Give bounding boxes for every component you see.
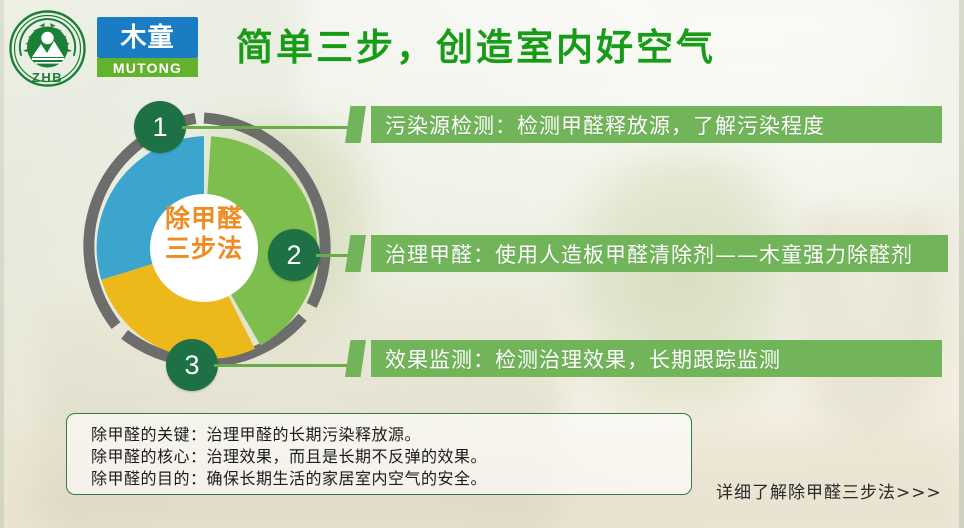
step-bar-2-tab bbox=[345, 235, 366, 272]
header: ZHB 木童 MUTONG 简单三步，创造室内好空气 bbox=[0, 0, 964, 95]
step-bar-3-text: 效果监测：检测治理效果，长期跟踪监测 bbox=[371, 344, 781, 374]
infographic-canvas: ZHB 木童 MUTONG 简单三步，创造室内好空气 bbox=[0, 0, 964, 528]
step-bar-1-tab bbox=[345, 106, 366, 143]
wheel-center-line2: 三步法 bbox=[116, 234, 292, 264]
step-bar-1-body: 污染源检测：检测甲醛释放源，了解污染程度 bbox=[371, 106, 942, 143]
zhb-emblem: ZHB bbox=[8, 9, 87, 88]
key-point-1: 除甲醛的关键：治理甲醛的长期污染释放源。 bbox=[91, 424, 691, 446]
mutong-logo-cn-text: 木童 bbox=[120, 25, 174, 51]
step-bar-2-text: 治理甲醛：使用人造板甲醛清除剂——木童强力除醛剂 bbox=[371, 239, 913, 269]
step-bar-2-body: 治理甲醛：使用人造板甲醛清除剂——木童强力除醛剂 bbox=[371, 235, 948, 272]
step-badge-2[interactable]: 2 bbox=[268, 229, 320, 281]
step-bar-1-text: 污染源检测：检测甲醛释放源，了解污染程度 bbox=[371, 110, 825, 140]
connector-line-1 bbox=[182, 126, 352, 129]
mutong-logo-cn: 木童 bbox=[97, 17, 198, 58]
background-plant-right bbox=[560, 150, 790, 430]
key-point-3: 除甲醛的目的：确保长期生活的家居室内空气的安全。 bbox=[91, 468, 691, 490]
step-bar-1[interactable]: 污染源检测：检测甲醛释放源，了解污染程度 bbox=[345, 106, 942, 143]
step-bar-3-tab bbox=[345, 340, 366, 377]
step-bar-3-body: 效果监测：检测治理效果，长期跟踪监测 bbox=[371, 340, 942, 377]
step-badge-1[interactable]: 1 bbox=[134, 101, 186, 153]
mutong-logo: 木童 MUTONG bbox=[97, 17, 198, 77]
more-info-link[interactable]: 详细了解除甲醛三步法>>> bbox=[716, 478, 956, 503]
wheel-center-label: 除甲醛 三步法 bbox=[116, 204, 292, 264]
emblem-text: ZHB bbox=[32, 70, 63, 85]
step-bar-2[interactable]: 治理甲醛：使用人造板甲醛清除剂——木童强力除醛剂 bbox=[345, 235, 948, 272]
mutong-logo-en-text: MUTONG bbox=[113, 61, 182, 75]
mutong-logo-en: MUTONG bbox=[97, 58, 198, 77]
step-bar-3[interactable]: 效果监测：检测治理效果，长期跟踪监测 bbox=[345, 340, 942, 377]
key-points-box: 除甲醛的关键：治理甲醛的长期污染释放源。 除甲醛的核心：治理效果，而且是长期不反… bbox=[66, 413, 692, 495]
wheel-center-line1: 除甲醛 bbox=[116, 204, 292, 234]
step-badge-3[interactable]: 3 bbox=[166, 339, 218, 391]
connector-line-3 bbox=[214, 364, 352, 367]
key-point-2: 除甲醛的核心：治理效果，而且是长期不反弹的效果。 bbox=[91, 446, 691, 468]
page-title: 简单三步，创造室内好空气 bbox=[236, 20, 756, 75]
